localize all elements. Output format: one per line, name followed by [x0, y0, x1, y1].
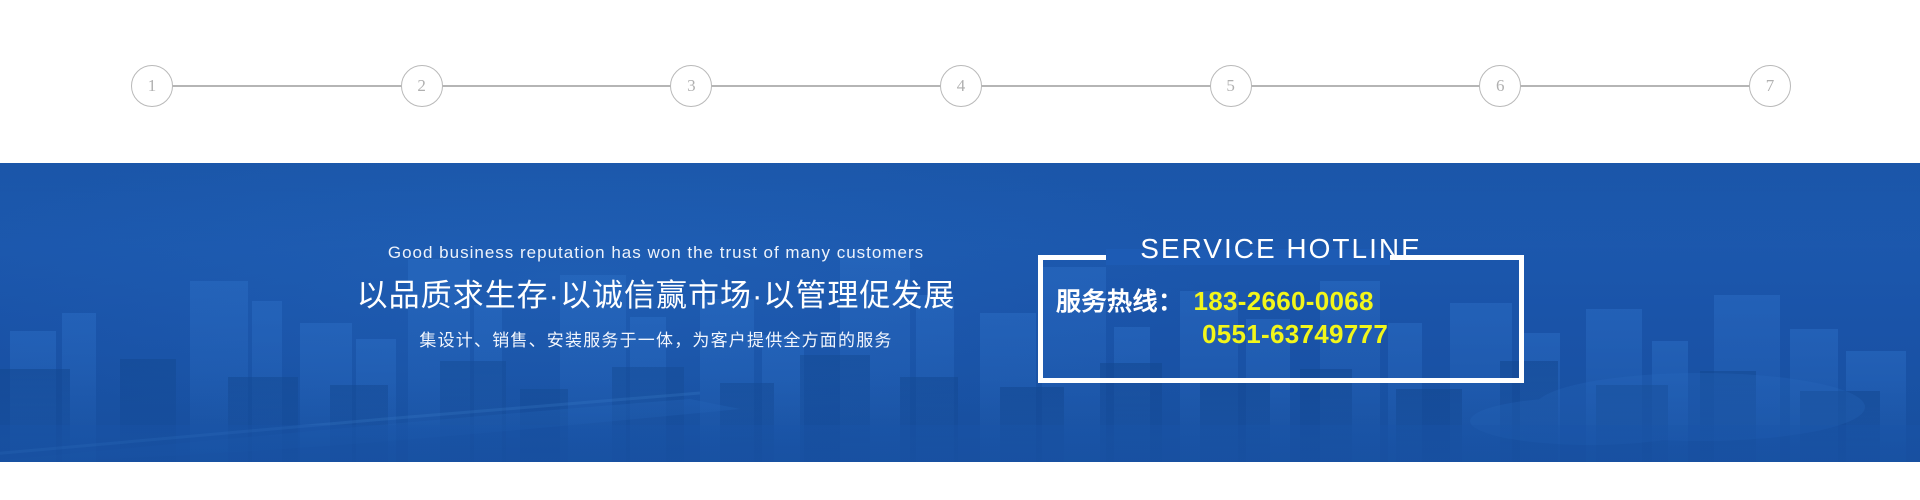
hotline-label: 服务热线：: [1056, 286, 1184, 318]
step-node-5[interactable]: 5: [1210, 65, 1252, 107]
slogan-english-line: Good business reputation has won the tru…: [300, 243, 1012, 263]
bottom-white-strip: [0, 462, 1920, 500]
service-hotline-box: SERVICE HOTLINE 服务热线： 183-2660-0068 0551…: [1038, 255, 1524, 383]
hotline-row-secondary: 0551-63749777: [1056, 318, 1506, 351]
pagination-stepper: 1 2 3 4 5 6 7: [131, 65, 1791, 107]
promo-banner: Good business reputation has won the tru…: [0, 163, 1920, 462]
page-root: 1 2 3 4 5 6 7: [0, 0, 1920, 500]
step-node-3[interactable]: 3: [670, 65, 712, 107]
step-node-6[interactable]: 6: [1479, 65, 1521, 107]
hotline-title: SERVICE HOTLINE: [1038, 235, 1524, 263]
slogan-headline: 以品质求生存·以诚信赢市场·以管理促发展: [300, 277, 1012, 316]
stepper-strip: 1 2 3 4 5 6 7: [0, 0, 1920, 163]
slogan-subline: 集设计、销售、安装服务于一体，为客户提供全方面的服务: [300, 330, 1012, 352]
step-node-7[interactable]: 7: [1749, 65, 1791, 107]
step-node-4[interactable]: 4: [940, 65, 982, 107]
hotline-number-primary[interactable]: 183-2660-0068: [1194, 285, 1374, 318]
step-node-1[interactable]: 1: [131, 65, 173, 107]
hotline-row-primary: 服务热线： 183-2660-0068: [1056, 285, 1506, 318]
hotline-number-secondary[interactable]: 0551-63749777: [1202, 318, 1388, 351]
step-node-2[interactable]: 2: [401, 65, 443, 107]
hotline-numbers-list: 服务热线： 183-2660-0068 0551-63749777: [1038, 285, 1524, 352]
slogan-block: Good business reputation has won the tru…: [300, 243, 1012, 352]
banner-top-rule: [0, 163, 1920, 165]
